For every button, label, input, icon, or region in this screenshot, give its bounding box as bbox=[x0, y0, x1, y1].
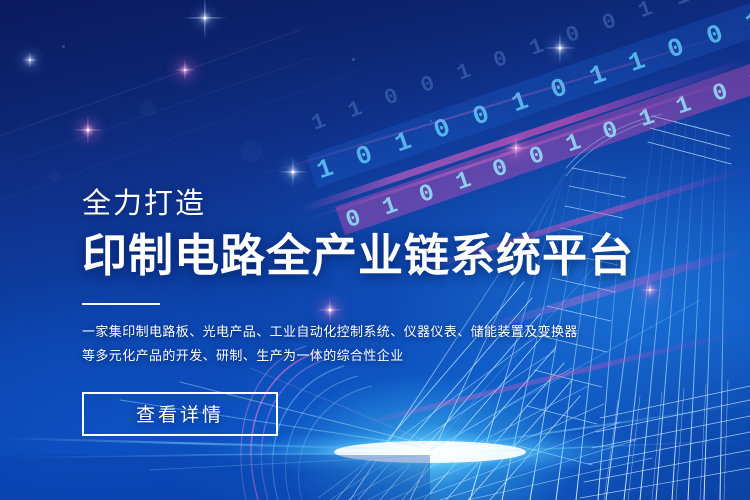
hero-eyebrow: 全力打造 bbox=[82, 190, 682, 219]
bokeh-dot bbox=[140, 100, 156, 116]
hero-description-line-1: 一家集印制电路板、光电产品、工业自动化控制系统、仪器仪表、储能装置及变换器 bbox=[82, 320, 682, 344]
svg-text:1 0 1 0 0 1 0 1 1 0 0 1 0 1: 1 0 1 0 0 1 0 1 1 0 0 1 0 1 bbox=[313, 0, 750, 186]
hero-banner: 1 0 1 0 0 1 0 1 1 0 0 1 0 1 0 1 0 1 0 0 … bbox=[0, 0, 750, 500]
hero-content: 全力打造 印制电路全产业链系统平台 一家集印制电路板、光电产品、工业自动化控制系… bbox=[82, 190, 682, 436]
bokeh-dot bbox=[352, 58, 355, 61]
bokeh-dot bbox=[48, 170, 60, 182]
title-divider bbox=[82, 303, 160, 305]
bokeh-dot bbox=[430, 120, 432, 122]
hero-headline: 印制电路全产业链系统平台 bbox=[82, 232, 682, 280]
svg-text:1 1 0 0 1 0 1 0 0 1 1 0: 1 1 0 0 1 0 1 0 0 1 1 0 bbox=[309, 0, 735, 137]
hero-description-line-2: 等多元化产品的开发、研制、生产为一体的综合性企业 bbox=[82, 344, 682, 368]
bokeh-dot bbox=[240, 140, 262, 162]
bokeh-dot bbox=[62, 45, 65, 48]
view-details-button[interactable]: 查看详情 bbox=[82, 392, 278, 436]
